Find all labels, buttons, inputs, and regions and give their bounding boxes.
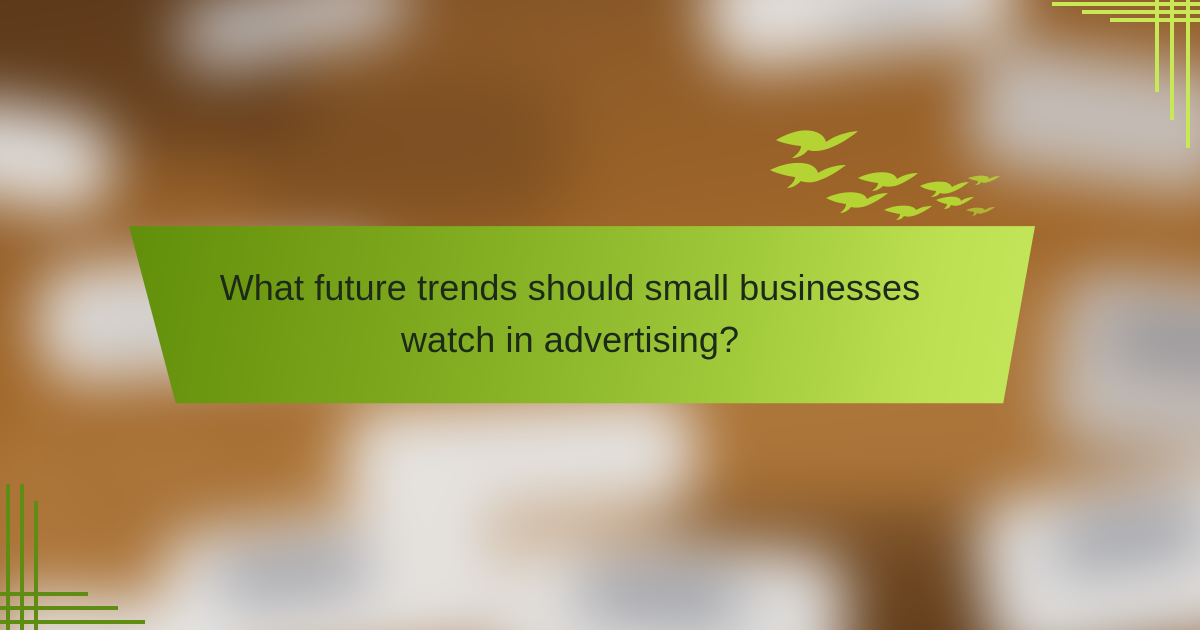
- bird-tiny: [968, 176, 1000, 185]
- paper-card: [1047, 266, 1200, 471]
- corner-line-vertical: [1155, 0, 1159, 92]
- bird-medium: [770, 163, 846, 188]
- corner-lines-top-right: [0, 0, 1200, 160]
- bird-small: [884, 206, 932, 220]
- corner-line-horizontal: [0, 620, 145, 624]
- corner-line-horizontal: [0, 592, 88, 596]
- corner-line-horizontal: [1052, 2, 1200, 6]
- card-ink-mark: [577, 564, 739, 628]
- bird-small: [920, 182, 969, 197]
- bird-tiny: [966, 207, 995, 216]
- corner-line-vertical: [34, 501, 38, 630]
- corner-line-horizontal: [1082, 10, 1200, 14]
- bird-medium: [858, 172, 918, 191]
- corner-line-horizontal: [0, 606, 118, 610]
- corner-line-vertical: [1170, 0, 1174, 120]
- corner-line-vertical: [1186, 0, 1190, 148]
- corner-lines-bottom-left: [0, 470, 200, 630]
- paper-card: [343, 391, 698, 526]
- bird-medium: [826, 192, 888, 213]
- poster-canvas: What future trends should small business…: [0, 0, 1200, 630]
- bird-small: [936, 197, 974, 209]
